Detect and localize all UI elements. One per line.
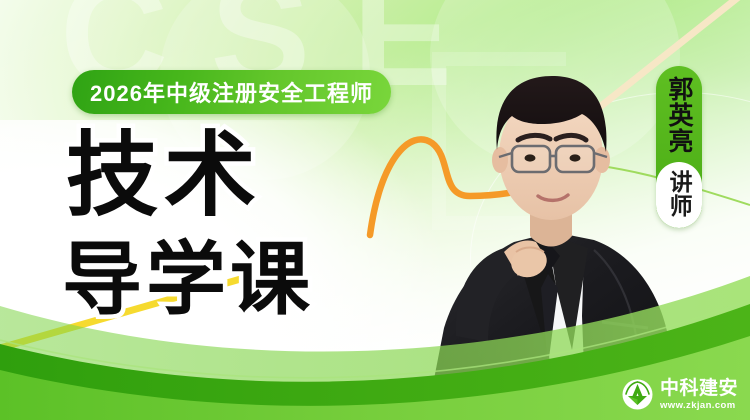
logo-text-block: 中科建安 www.zkjan.com bbox=[660, 379, 738, 411]
instructor-name-badge: 郭英亮 讲师 bbox=[656, 66, 702, 228]
logo-brand-name: 中科建安 bbox=[660, 379, 738, 398]
logo-website-url: www.zkjan.com bbox=[660, 401, 738, 411]
zkjan-logo-icon bbox=[622, 379, 653, 410]
course-poster-banner: CSE 技术 bbox=[0, 0, 750, 420]
course-badge-label: 2026年中级注册安全工程师 bbox=[90, 76, 373, 108]
instructor-name-label: 郭英亮 bbox=[665, 66, 693, 162]
headline-main-title: 技术 bbox=[66, 130, 262, 222]
instructor-role-label: 讲师 bbox=[666, 162, 692, 228]
brand-logo[interactable]: 中科建安 www.zkjan.com bbox=[622, 379, 738, 411]
course-badge: 2026年中级注册安全工程师 bbox=[72, 70, 391, 114]
instructor-role-badge: 讲师 bbox=[656, 162, 702, 228]
